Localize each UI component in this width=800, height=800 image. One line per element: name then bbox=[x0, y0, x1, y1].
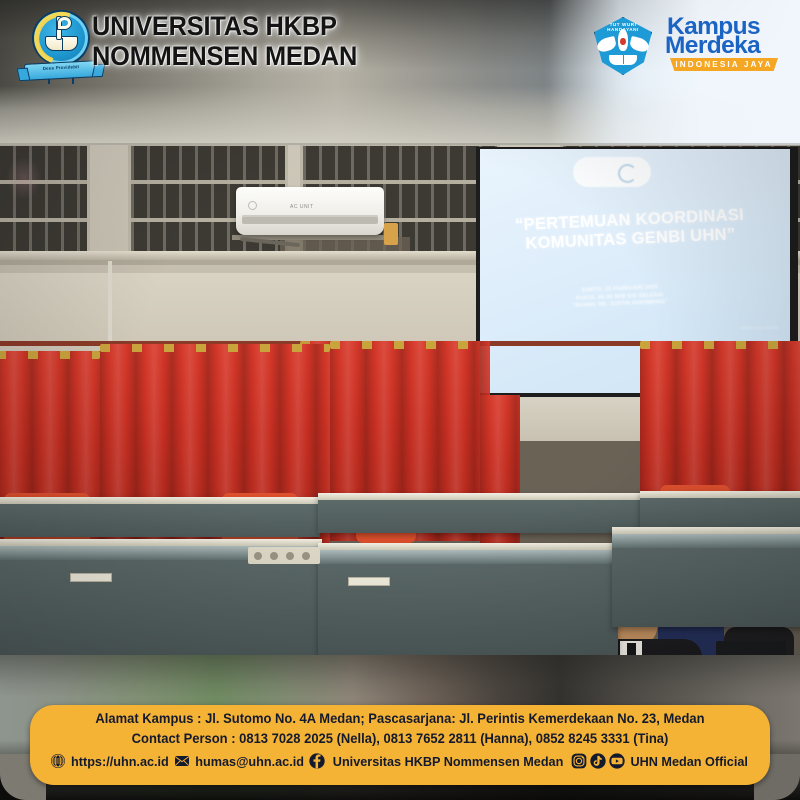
youtube-icon bbox=[609, 753, 625, 769]
wall-conduit bbox=[108, 261, 112, 341]
tut-wuri-handayani-icon: TUT WURI HANDAYANI bbox=[594, 17, 652, 79]
table-nameplate bbox=[348, 577, 390, 586]
shelf-object bbox=[384, 223, 398, 245]
globe-icon bbox=[50, 753, 66, 769]
facebook-page-name[interactable]: Universitas HKBP Nommensen Medan bbox=[333, 754, 564, 769]
kampus-merdeka-ribbon: INDONESIA JAYA bbox=[670, 58, 778, 71]
crest-rho-icon bbox=[58, 17, 71, 29]
facebook-icon bbox=[309, 753, 325, 769]
footer-top-shade bbox=[0, 655, 800, 697]
ac-logo-badge bbox=[248, 201, 257, 210]
email-address[interactable]: humas@uhn.ac.id bbox=[195, 754, 304, 769]
ac-vent bbox=[242, 215, 378, 224]
event-photograph: AC UNIT “PERTEMUAN KOORDINASI KOMUNITAS … bbox=[0, 145, 800, 655]
slide-footer-note: GENBI UHN MEDAN bbox=[740, 325, 778, 330]
table-front-2 bbox=[318, 543, 618, 655]
poster-footer: Alamat Kampus : Jl. Sutomo No. 4A Medan;… bbox=[0, 655, 800, 800]
tutwuri-book-icon bbox=[609, 55, 637, 65]
instagram-icon bbox=[571, 753, 587, 769]
kampus-merdeka-logo: Kampus Merdeka INDONESIA JAYA bbox=[665, 16, 783, 74]
contact-info-banner: Alamat Kampus : Jl. Sutomo No. 4A Medan;… bbox=[30, 705, 770, 785]
uhn-crest-logo-icon: Deus Providebit bbox=[24, 8, 98, 86]
slide-subtitle: SABTU, 15 FEBRUARI 2025 PUKUL 09.30 WIB … bbox=[500, 281, 741, 314]
poster-root: Deus Providebit UNIVERSITAS HKBP NOMMENS… bbox=[0, 0, 800, 800]
table-back-3 bbox=[640, 491, 800, 529]
social-links-row: https://uhn.ac.id humas@uhn.ac.id Univer… bbox=[30, 753, 770, 769]
power-socket-strip bbox=[248, 547, 320, 564]
contact-person-text: Contact Person : 0813 7028 2025 (Nella),… bbox=[47, 731, 754, 746]
window-barred-1 bbox=[0, 145, 90, 255]
tiktok-icon bbox=[590, 753, 606, 769]
envelope-icon bbox=[174, 753, 190, 769]
page-title: UNIVERSITAS HKBP NOMMENSEN MEDAN bbox=[92, 12, 506, 71]
kampus-merdeka-tagline: INDONESIA JAYA bbox=[670, 58, 778, 71]
table-front-3 bbox=[612, 527, 800, 627]
air-conditioner-unit: AC UNIT bbox=[236, 187, 384, 235]
campus-address-text: Alamat Kampus : Jl. Sutomo No. 4A Medan;… bbox=[47, 711, 754, 726]
slide-title: “PERTEMUAN KOORDINASI KOMUNITAS GENBI UH… bbox=[489, 205, 770, 256]
table-back-2 bbox=[318, 493, 648, 533]
poster-header: Deus Providebit UNIVERSITAS HKBP NOMMENS… bbox=[0, 0, 800, 145]
slide-logo-icon bbox=[573, 157, 651, 187]
institution-name-line2: NOMMENSEN MEDAN bbox=[92, 42, 506, 72]
crest-book-icon bbox=[45, 36, 78, 51]
website-url[interactable]: https://uhn.ac.id bbox=[71, 754, 169, 769]
tutwuri-flame-icon bbox=[618, 29, 628, 51]
table-back-1 bbox=[0, 497, 320, 537]
table-nameplate bbox=[70, 573, 112, 582]
laptop-closed bbox=[716, 641, 786, 655]
institution-name-line1: UNIVERSITAS HKBP bbox=[92, 12, 506, 42]
ac-brand-label: AC UNIT bbox=[290, 204, 314, 210]
kampus-merdeka-line2: Merdeka bbox=[665, 35, 760, 57]
youtube-channel-name[interactable]: UHN Medan Official bbox=[630, 754, 747, 769]
